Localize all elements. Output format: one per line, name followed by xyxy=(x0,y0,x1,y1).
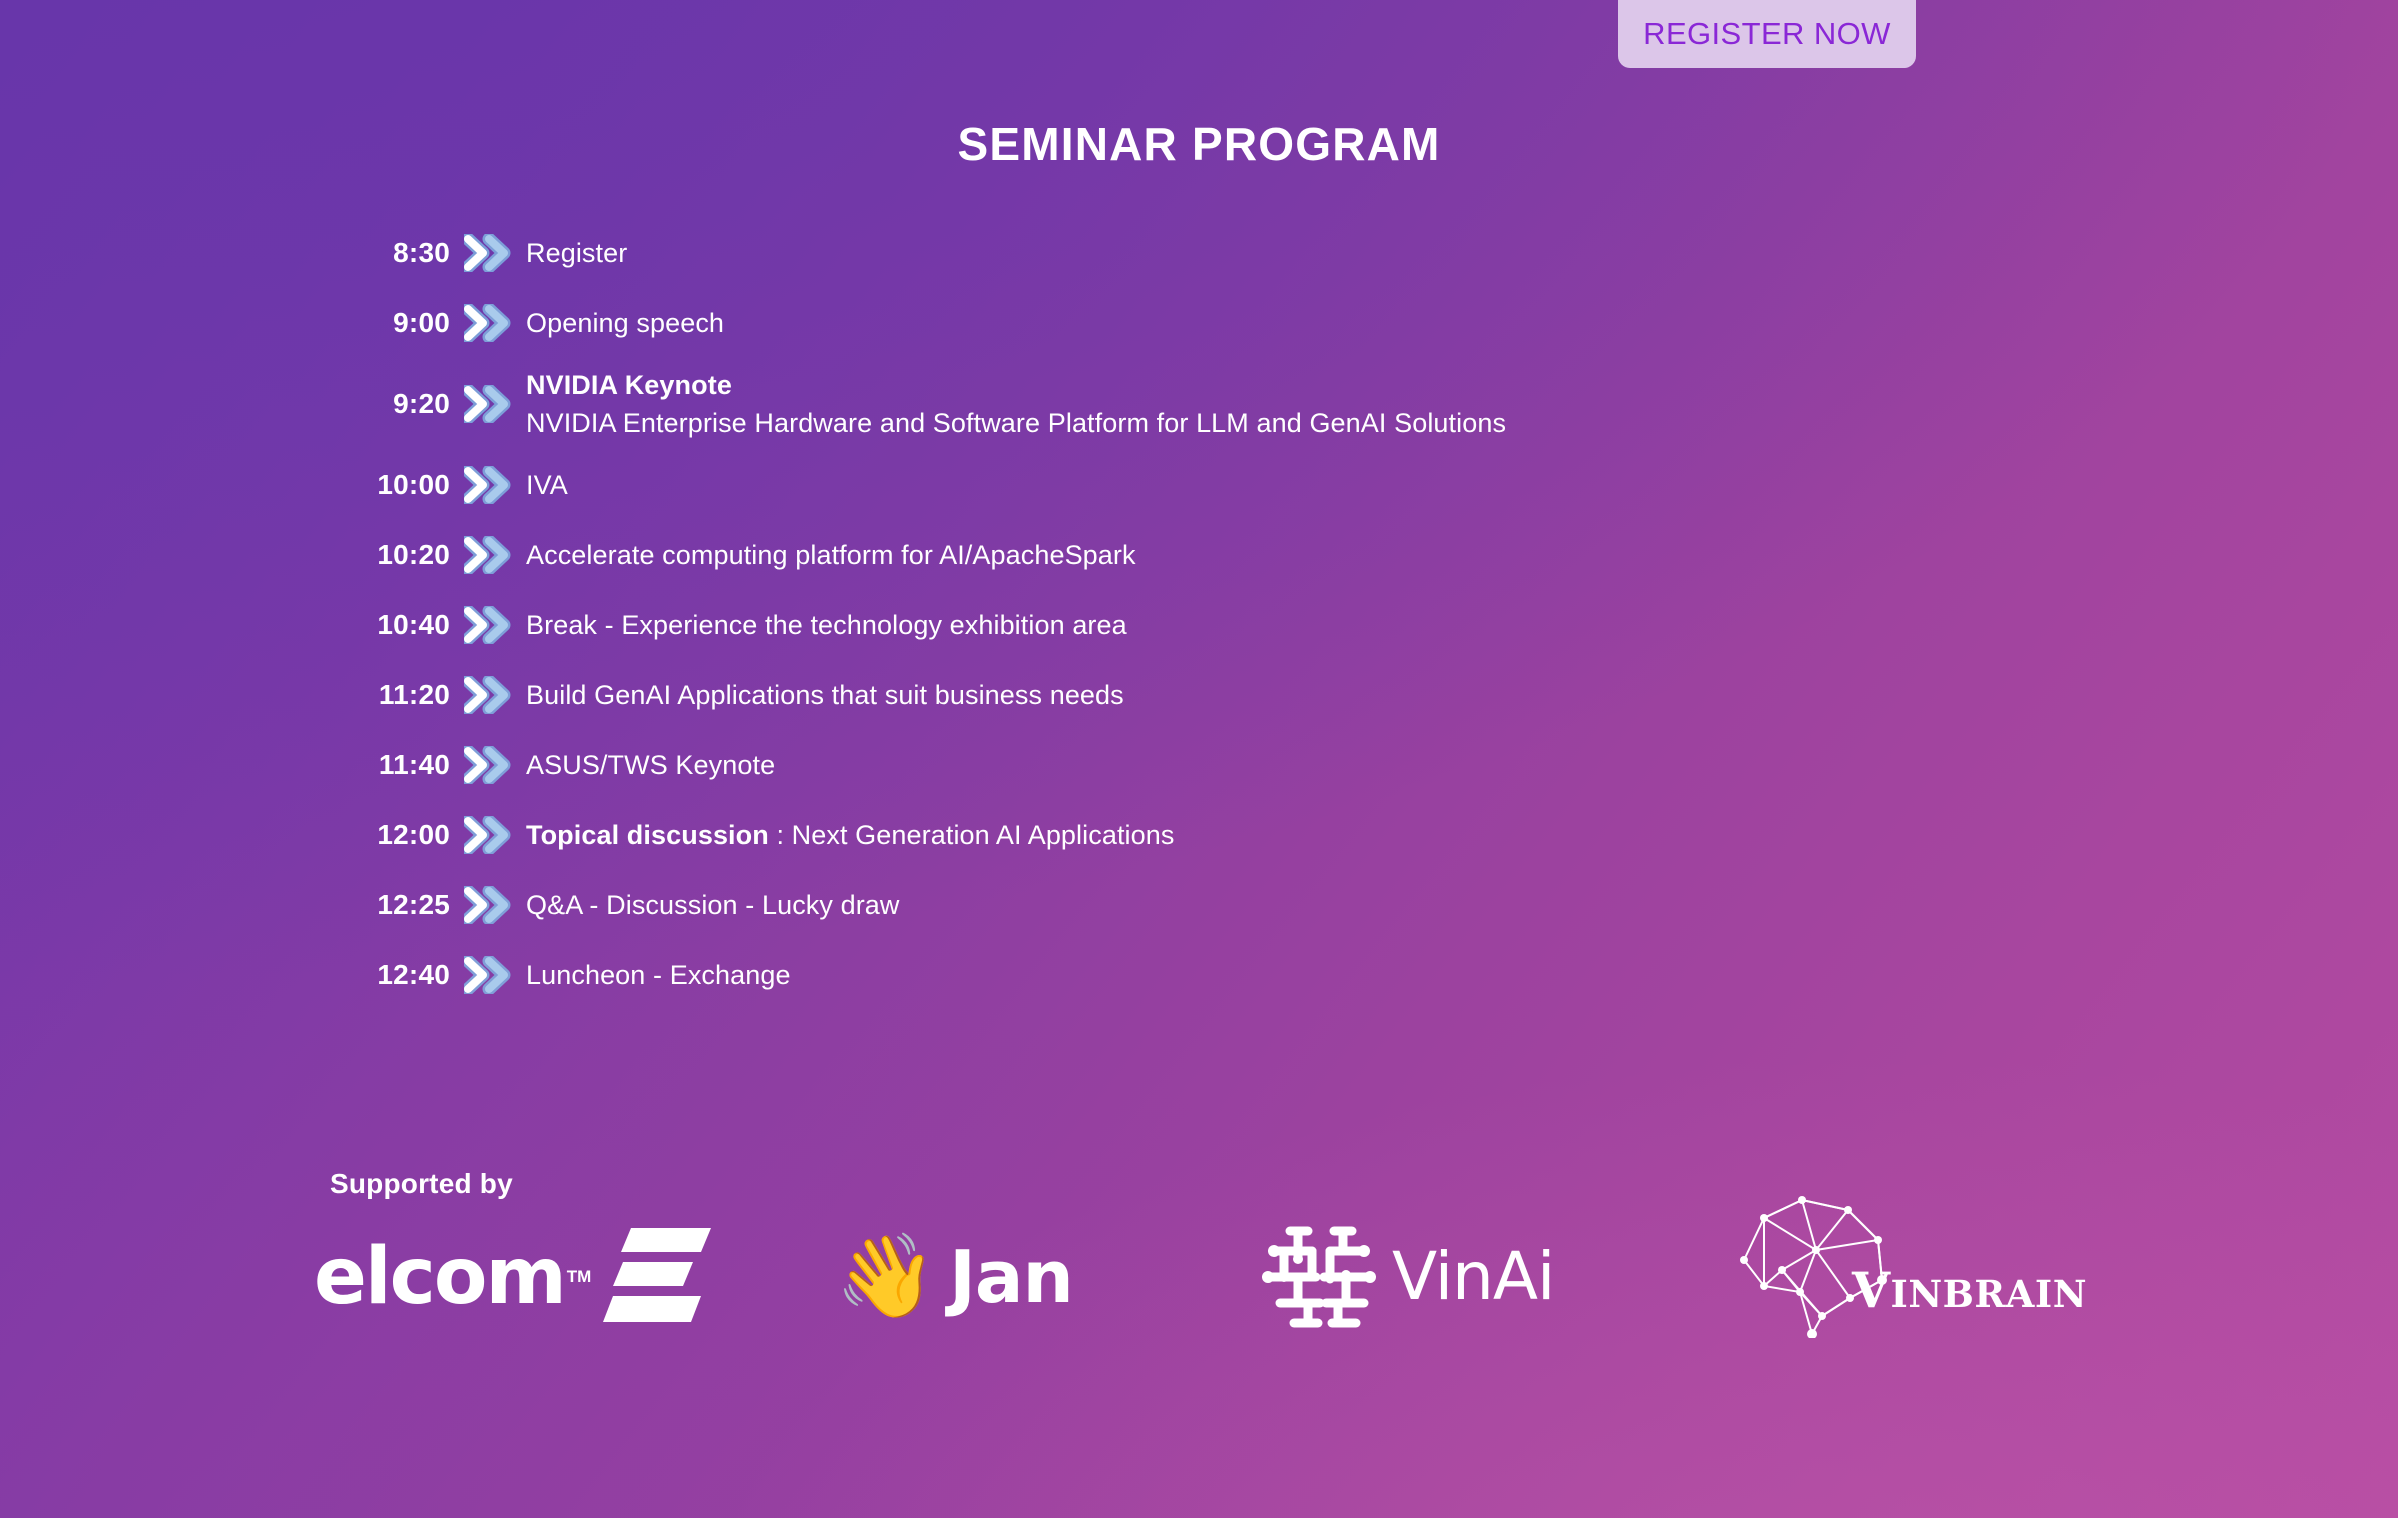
schedule-row: 11:20 Build GenAI Applications that suit… xyxy=(330,660,2130,730)
sponsor-logo-vinbrain: VINBRAIN xyxy=(1730,1198,2070,1328)
sponsor-logo-elcom: elcom TM xyxy=(314,1212,713,1342)
schedule-time: 12:25 xyxy=(330,889,450,921)
schedule-list: 8:30 Register9:00 Opening speech9:20 NVI… xyxy=(330,218,2130,1010)
schedule-row: 12:40 Luncheon - Exchange xyxy=(330,940,2130,1010)
schedule-time: 12:00 xyxy=(330,819,450,851)
vinai-circuit-mark-icon xyxy=(1260,1219,1378,1336)
schedule-time: 12:40 xyxy=(330,959,450,991)
double-chevron-icon xyxy=(450,676,526,714)
jan-wordmark: Jan xyxy=(949,1241,1073,1313)
schedule-description-rest: : Next Generation AI Applications xyxy=(769,820,1175,850)
double-chevron-icon xyxy=(450,816,526,854)
schedule-time: 9:20 xyxy=(330,388,450,420)
vinai-wordmark: VinAi xyxy=(1392,1244,1554,1310)
schedule-row: 10:40 Break - Experience the technology … xyxy=(330,590,2130,660)
schedule-row: 10:00 IVA xyxy=(330,450,2130,520)
seminar-program-page: REGISTER NOW SEMINAR PROGRAM 8:30 Regist… xyxy=(0,0,2398,1518)
trademark-icon: TM xyxy=(567,1267,592,1287)
schedule-description-subtitle: NVIDIA Enterprise Hardware and Software … xyxy=(526,404,1506,442)
elcom-e-mark-icon xyxy=(601,1226,713,1329)
double-chevron-icon xyxy=(450,746,526,784)
schedule-row: 12:00 Topical discussion : Next Generati… xyxy=(330,800,2130,870)
sponsor-logo-strip: elcom TM 👋 Jan xyxy=(300,1212,2200,1342)
schedule-row: 12:25 Q&A - Discussion - Lucky draw xyxy=(330,870,2130,940)
schedule-row: 11:40 ASUS/TWS Keynote xyxy=(330,730,2130,800)
schedule-description: Opening speech xyxy=(526,304,724,342)
schedule-row: 8:30 Register xyxy=(330,218,2130,288)
register-now-button[interactable]: REGISTER NOW xyxy=(1618,0,1916,68)
schedule-time: 11:40 xyxy=(330,749,450,781)
schedule-description-title: Topical discussion xyxy=(526,820,769,850)
double-chevron-icon xyxy=(450,536,526,574)
double-chevron-icon xyxy=(450,385,526,423)
schedule-time: 10:40 xyxy=(330,609,450,641)
schedule-description: NVIDIA KeynoteNVIDIA Enterprise Hardware… xyxy=(526,366,1506,443)
schedule-description: Break - Experience the technology exhibi… xyxy=(526,606,1127,644)
schedule-time: 9:00 xyxy=(330,307,450,339)
double-chevron-icon xyxy=(450,606,526,644)
schedule-time: 8:30 xyxy=(330,237,450,269)
schedule-time: 10:00 xyxy=(330,469,450,501)
schedule-description: Build GenAI Applications that suit busin… xyxy=(526,676,1124,714)
schedule-description: Luncheon - Exchange xyxy=(526,956,791,994)
schedule-description-title: NVIDIA Keynote xyxy=(526,366,1506,404)
schedule-description: Accelerate computing platform for AI/Apa… xyxy=(526,536,1136,574)
double-chevron-icon xyxy=(450,956,526,994)
elcom-wordmark: elcom xyxy=(314,1238,565,1316)
double-chevron-icon xyxy=(450,466,526,504)
schedule-row: 10:20 Accelerate computing platform for … xyxy=(330,520,2130,590)
schedule-description: Topical discussion : Next Generation AI … xyxy=(526,816,1175,854)
schedule-row: 9:20 NVIDIA KeynoteNVIDIA Enterprise Har… xyxy=(330,358,2130,450)
double-chevron-icon xyxy=(450,886,526,924)
supported-by-label: Supported by xyxy=(330,1168,513,1200)
schedule-description: Q&A - Discussion - Lucky draw xyxy=(526,886,900,924)
double-chevron-icon xyxy=(450,234,526,272)
vinbrain-wordmark: VINBRAIN xyxy=(1852,1266,2087,1315)
waving-hand-icon: 👋 xyxy=(835,1236,937,1318)
schedule-time: 11:20 xyxy=(330,679,450,711)
page-title: SEMINAR PROGRAM xyxy=(0,117,2398,171)
double-chevron-icon xyxy=(450,304,526,342)
schedule-description: IVA xyxy=(526,466,568,504)
schedule-description: ASUS/TWS Keynote xyxy=(526,746,775,784)
schedule-description: Register xyxy=(526,234,627,272)
schedule-row: 9:00 Opening speech xyxy=(330,288,2130,358)
sponsor-logo-jan: 👋 Jan xyxy=(835,1212,1073,1342)
schedule-time: 10:20 xyxy=(330,539,450,571)
sponsor-logo-vinai: VinAi xyxy=(1260,1212,1554,1342)
